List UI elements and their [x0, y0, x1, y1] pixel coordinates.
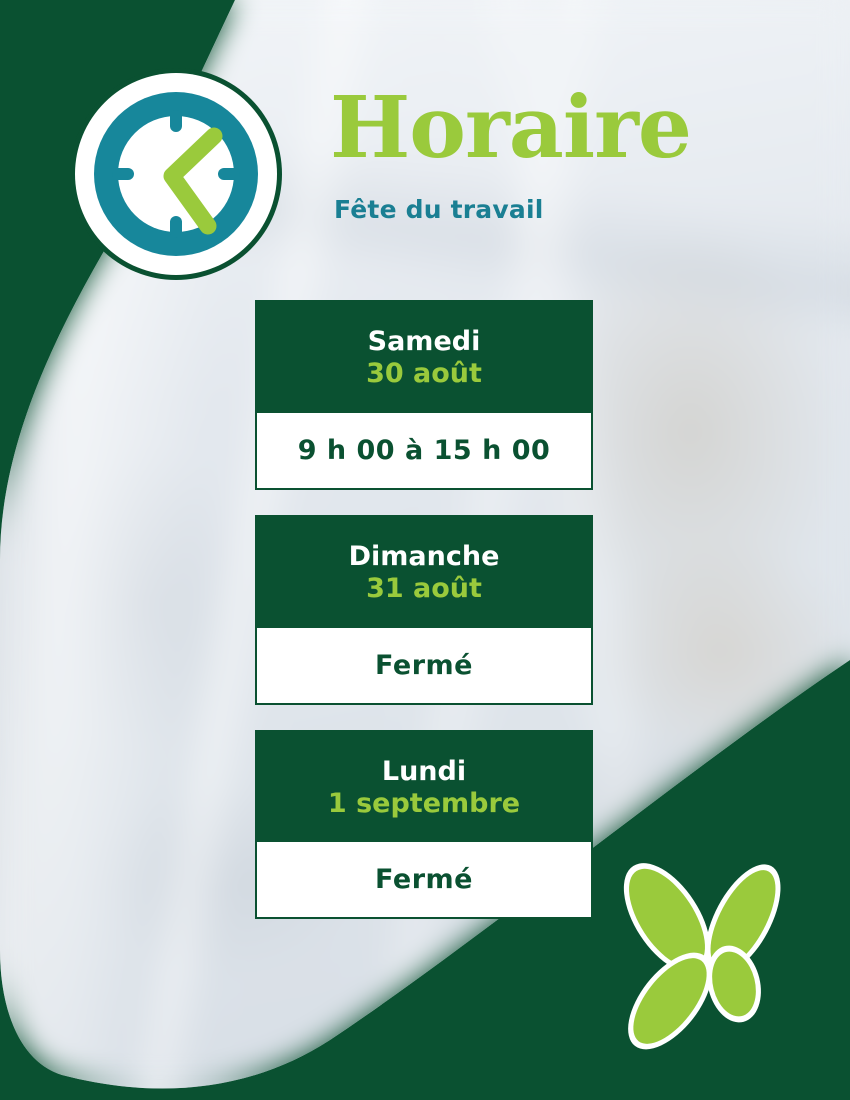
poster-root: Horaire Fête du travail Samedi 30 août 9…	[0, 0, 850, 1100]
page-title: Horaire	[330, 88, 800, 169]
header-text-block: Horaire Fête du travail	[330, 88, 800, 224]
schedule-card-body: 9 h 00 à 15 h 00	[255, 413, 593, 490]
schedule-hours-value: Fermé	[267, 864, 581, 895]
schedule-date-label: 1 septembre	[265, 787, 583, 821]
schedule-card-header: Lundi 1 septembre	[255, 730, 593, 843]
schedule-date-label: 30 août	[265, 357, 583, 391]
schedule-card-header: Samedi 30 août	[255, 300, 593, 413]
clock-icon	[68, 66, 284, 282]
schedule-day-label: Dimanche	[265, 541, 583, 572]
schedule-card: Samedi 30 août 9 h 00 à 15 h 00	[255, 300, 593, 490]
schedule-card-header: Dimanche 31 août	[255, 515, 593, 628]
schedule-hours-value: Fermé	[267, 650, 581, 681]
schedule-card: Lundi 1 septembre Fermé	[255, 730, 593, 920]
page-subtitle: Fête du travail	[334, 195, 800, 224]
schedule-card-body: Fermé	[255, 628, 593, 705]
schedule-hours-value: 9 h 00 à 15 h 00	[267, 435, 581, 466]
butterfly-logo-icon	[612, 856, 802, 1056]
schedule-card: Dimanche 31 août Fermé	[255, 515, 593, 705]
schedule-card-body: Fermé	[255, 842, 593, 919]
schedule-day-label: Lundi	[265, 756, 583, 787]
schedule-card-list: Samedi 30 août 9 h 00 à 15 h 00 Dimanche…	[255, 300, 593, 919]
schedule-date-label: 31 août	[265, 572, 583, 606]
schedule-day-label: Samedi	[265, 326, 583, 357]
